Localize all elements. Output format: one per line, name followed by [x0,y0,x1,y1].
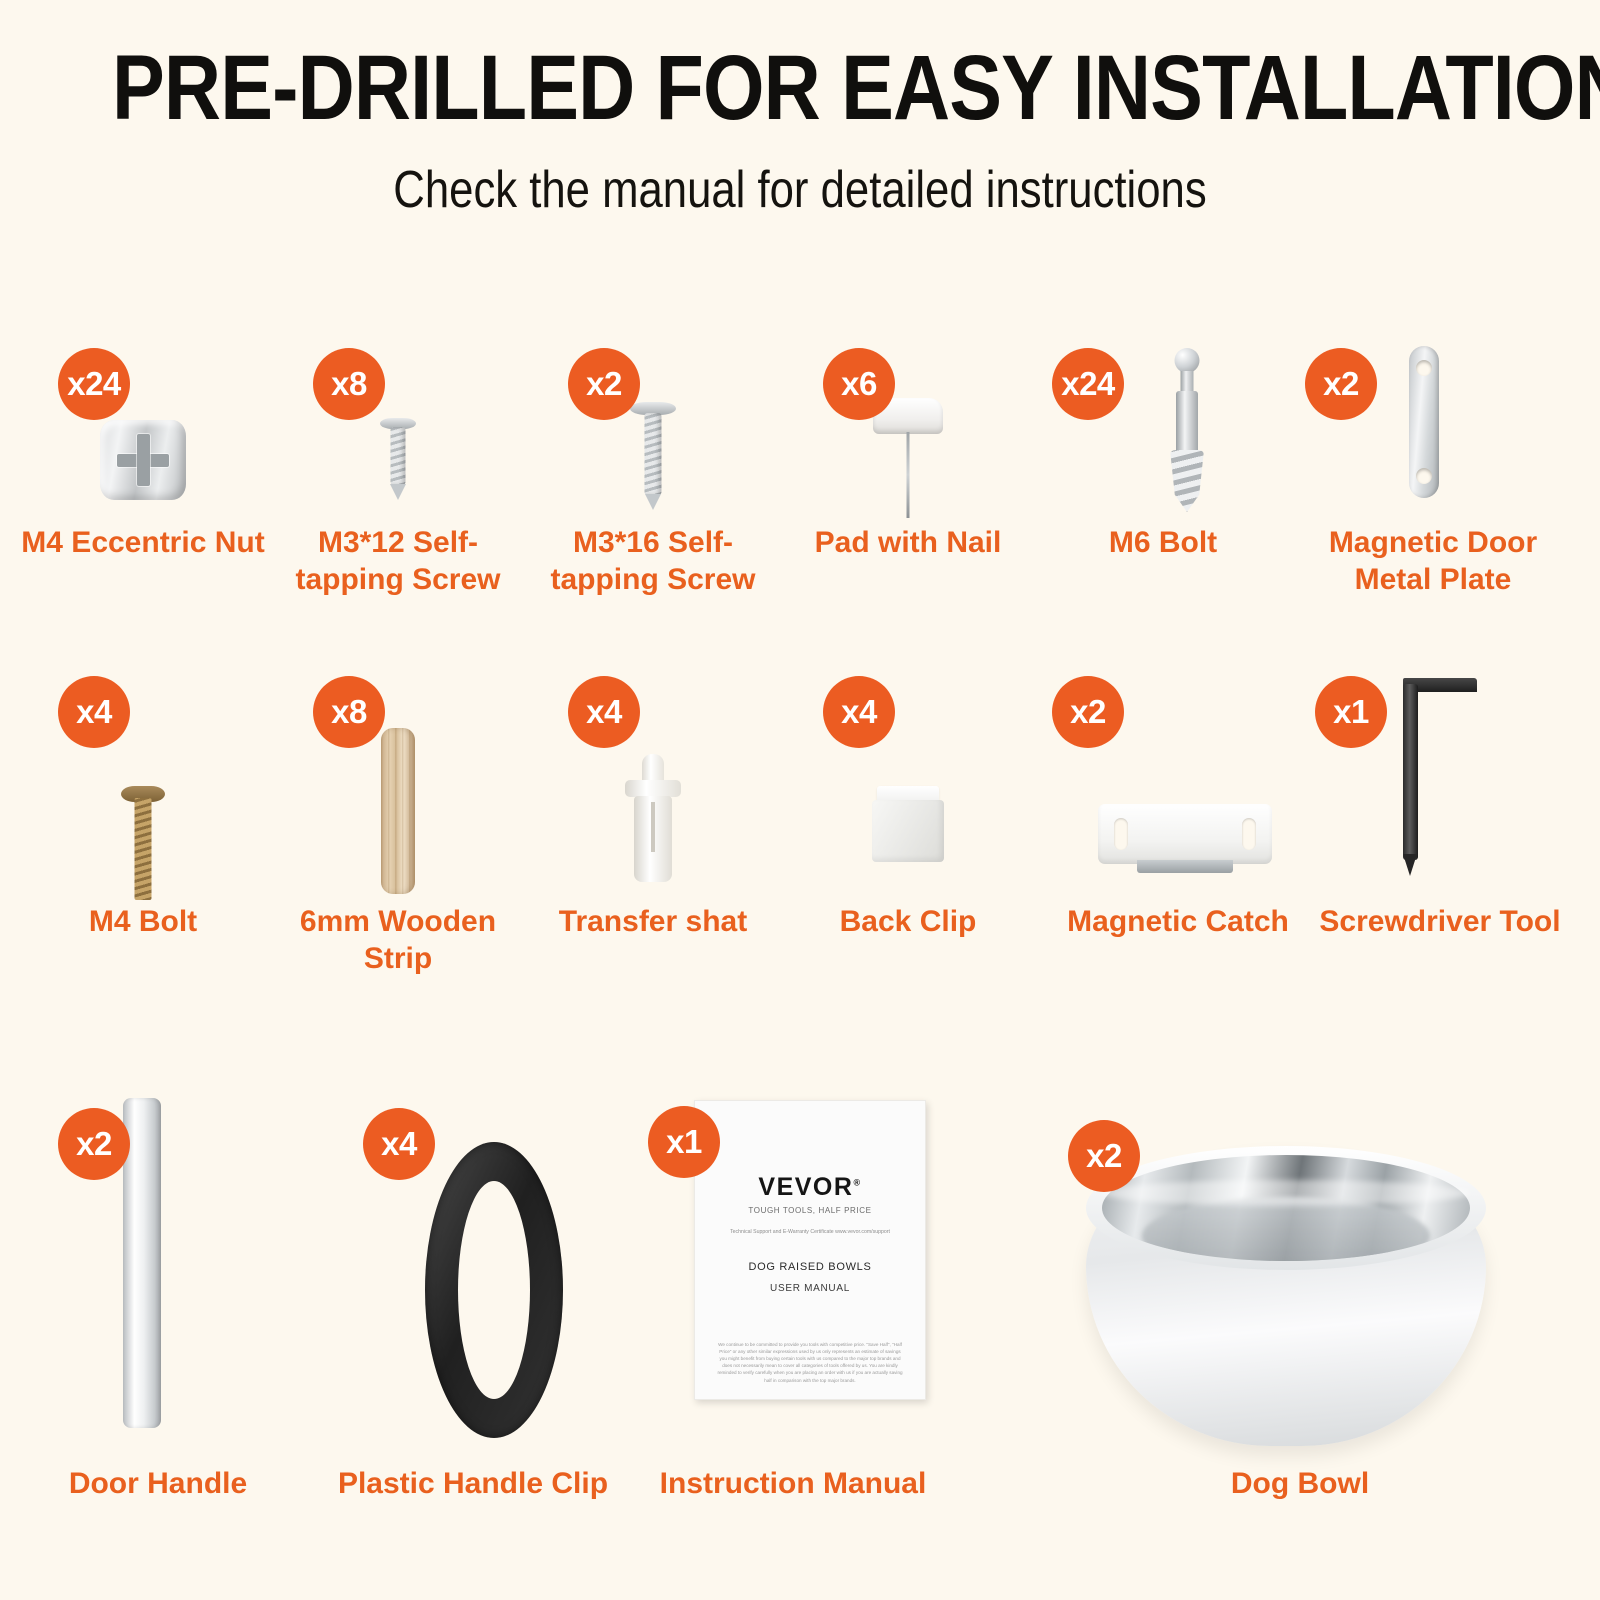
m4-bolt-icon [18,786,268,916]
part-label: M6 Bolt [1038,525,1288,562]
self-tapping-screw-icon [273,418,523,518]
manual-disclaimer: We continue to be committed to provide y… [717,1341,903,1384]
part-cell[interactable]: x1 Screwdriver Tool [1305,676,1575,976]
part-label: M4 Eccentric Nut [18,525,268,562]
part-label: Plastic Handle Clip [333,1466,613,1503]
quantity-badge: x1 [1315,676,1387,748]
part-label: 6mm Wooden Strip [273,904,523,977]
quantity-badge: x4 [823,676,895,748]
part-cell[interactable]: x8 6mm Wooden Strip [273,676,523,976]
quantity-badge: x8 [313,348,385,420]
parts-grid: x24 M4 Eccentric Nut x8 M3*12 Self-tappi… [0,0,1600,1600]
part-cell[interactable]: x4 Back Clip [783,676,1033,976]
part-cell[interactable]: x2 Magnetic Catch [1038,676,1318,976]
quantity-badge: x1 [648,1106,720,1178]
quantity-badge: x2 [1052,676,1124,748]
part-label: M3*16 Self-tapping Screw [528,525,778,598]
part-cell[interactable]: x4 M4 Bolt [18,676,268,976]
quantity-badge: x24 [1052,348,1124,420]
part-label: Dog Bowl [1020,1466,1580,1503]
quantity-badge: x4 [58,676,130,748]
part-label: Magnetic Door Metal Plate [1293,525,1573,598]
vevor-logo: VEVOR® [695,1173,925,1202]
dog-bowl-icon [1086,1146,1486,1446]
quantity-badge: x24 [58,348,130,420]
quantity-badge: x4 [363,1108,435,1180]
quantity-badge: x2 [58,1108,130,1180]
quantity-badge: x6 [823,348,895,420]
part-cell[interactable]: x2 Magnetic Door Metal Plate [1293,340,1573,600]
part-cell[interactable]: x8 M3*12 Self-tapping Screw [273,340,523,600]
eccentric-nut-icon [100,420,186,500]
self-tapping-screw-icon [528,402,778,522]
part-label: Magnetic Catch [1038,904,1318,941]
magnetic-catch-icon [1098,804,1272,864]
part-label: Pad with Nail [783,525,1033,562]
quantity-badge: x2 [1068,1120,1140,1192]
part-label: Door Handle [18,1466,298,1503]
manual-doc-title: USER MANUAL [695,1283,925,1294]
transfer-shat-icon [528,754,778,894]
part-cell[interactable]: x2 Dog Bowl [1020,1094,1580,1534]
part-cell[interactable]: x24 M6 Bolt [1038,340,1288,600]
back-clip-icon [783,786,1033,886]
manual-product-title: DOG RAISED BOWLS [695,1261,925,1273]
quantity-badge: x8 [313,676,385,748]
part-cell[interactable]: x6 Pad with Nail [783,340,1033,600]
part-cell[interactable]: x2 Door Handle [18,1094,298,1534]
screwdriver-tool-icon [1375,676,1555,886]
part-cell[interactable]: x4 Plastic Handle Clip [333,1094,613,1534]
instruction-manual-icon: VEVOR® TOUGH TOOLS, HALF PRICE Technical… [694,1100,926,1400]
part-label: Instruction Manual [648,1466,938,1503]
quantity-badge: x4 [568,676,640,748]
plastic-handle-clip-icon [425,1142,563,1438]
registered-mark-icon: ® [853,1178,861,1188]
part-label: Screwdriver Tool [1305,904,1575,941]
part-label: M3*12 Self-tapping Screw [273,525,523,598]
quantity-badge: x2 [568,348,640,420]
part-label: Transfer shat [528,904,778,941]
part-cell[interactable]: x4 Transfer shat [528,676,778,976]
vevor-logo-text: VEVOR [758,1173,853,1201]
pad-with-nail-icon [783,398,1033,528]
part-cell[interactable]: x24 M4 Eccentric Nut [18,340,268,600]
quantity-badge: x2 [1305,348,1377,420]
vevor-tagline: TOUGH TOOLS, HALF PRICE [695,1206,925,1215]
metal-plate-icon [1409,346,1439,498]
wooden-dowel-icon [381,728,415,894]
part-label: M4 Bolt [18,904,268,941]
part-cell[interactable]: x1 VEVOR® TOUGH TOOLS, HALF PRICE Techni… [648,1094,938,1554]
part-cell[interactable]: x2 M3*16 Self-tapping Screw [528,340,778,600]
part-label: Back Clip [783,904,1033,941]
manual-support-line: Technical Support and E-Warranty Certifi… [713,1229,907,1237]
